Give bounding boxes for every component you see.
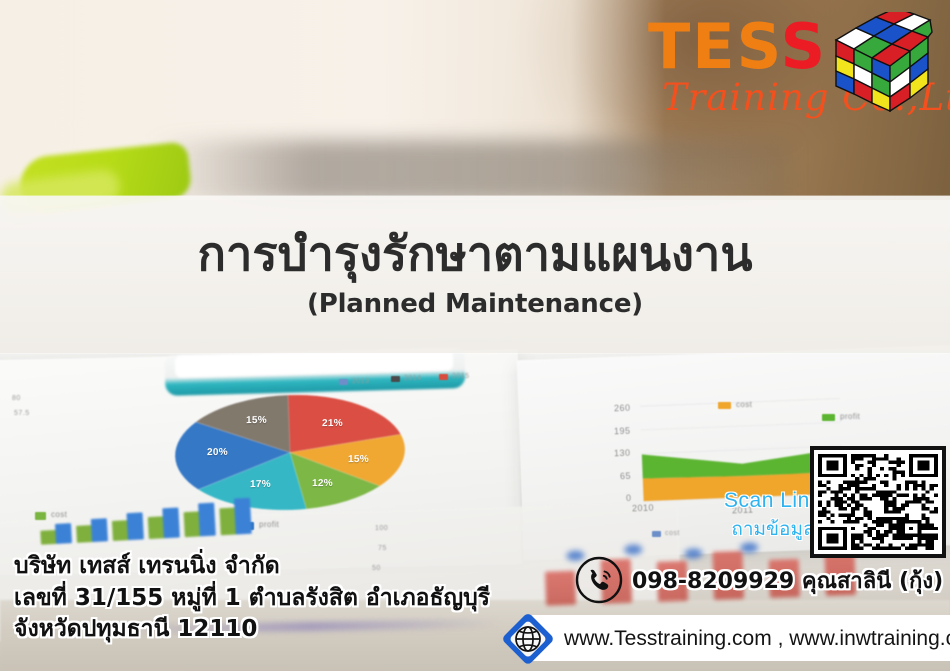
legend-label: profit — [259, 520, 279, 529]
axis-tick-label: 2010 — [632, 503, 654, 514]
phone-icon — [575, 556, 623, 604]
title-banner: การบำรุงรักษาตามแผนงาน (Planned Maintena… — [0, 196, 950, 353]
axis-tick-label: 65 — [620, 470, 631, 480]
legend-label: profit — [840, 412, 860, 421]
page-title: การบำรุงรักษาตามแผนงาน — [198, 230, 753, 279]
logo-wordmark: TESS — [648, 10, 827, 83]
logo-wordmark-part1: TES — [648, 10, 781, 83]
legend-swatch — [439, 374, 448, 380]
background-legend-text: 2013 — [352, 378, 370, 385]
legend-swatch — [822, 414, 835, 421]
page-subtitle: (Planned Maintenance) — [307, 289, 643, 319]
background-legend-text: cost — [665, 530, 680, 537]
company-name: บริษัท เทสส์ เทรนนิ่ง จำกัด — [14, 551, 494, 583]
pie-slice-label: 12% — [312, 478, 333, 489]
background-legend-text: 100 — [375, 525, 388, 532]
bar-segment — [55, 523, 72, 544]
poster-canvas: 21%15%12%17%20%15% costprofit 0651301952… — [0, 0, 950, 671]
background-legend-text: 80 — [12, 395, 21, 402]
legend-swatch — [339, 379, 348, 385]
bar-segment — [198, 503, 216, 537]
axis-tick-label: 195 — [614, 425, 631, 436]
legend-label: cost — [736, 400, 752, 409]
rubiks-cube-icon — [826, 12, 934, 112]
globe-icon — [498, 609, 558, 669]
bar-segment — [91, 518, 108, 542]
website-urls: www.Tesstraining.com , www.inwtraining.c… — [564, 627, 950, 651]
phone-contact[interactable]: 098-8209929 คุณสาลินี (กุ้ง) — [575, 556, 943, 604]
pie-slice-label: 21% — [322, 418, 343, 429]
tess-logo: TESS Training Co.,Ltd — [640, 8, 940, 133]
address-line-2: จังหวัดปทุมธานี 12110 — [14, 614, 494, 646]
background-legend-text: 2015 — [452, 373, 470, 380]
logo-wordmark-part2: S — [781, 10, 828, 83]
axis-tick-label: 130 — [614, 448, 631, 459]
qr-code-icon[interactable] — [810, 446, 946, 558]
background-legend-text: 57.5 — [14, 410, 30, 417]
background-legend-text: 2014 — [404, 375, 422, 382]
pie-slice-label: 15% — [246, 415, 267, 426]
axis-tick-label: 260 — [614, 403, 631, 414]
legend-swatch — [718, 402, 731, 409]
website-contact[interactable]: www.Tesstraining.com , www.inwtraining.c… — [498, 609, 950, 669]
company-address: บริษัท เทสส์ เทรนนิ่ง จำกัด เลขที่ 31/15… — [14, 551, 494, 646]
bar-segment — [127, 512, 144, 540]
address-line-1: เลขที่ 31/155 หมู่ที่ 1 ตำบลรังสิต อำเภอ… — [14, 583, 494, 615]
pie-slice-label: 20% — [207, 446, 228, 457]
pie-slice-label: 17% — [250, 479, 271, 490]
phone-number: 098-8209929 คุณสาลินี (กุ้ง) — [632, 563, 943, 598]
bar-segment — [234, 498, 252, 535]
legend-swatch — [652, 531, 661, 537]
bar-segment — [545, 571, 576, 606]
marker-dot — [624, 544, 642, 555]
bar-segment — [162, 508, 180, 539]
axis-tick-label: 0 — [626, 493, 632, 503]
legend-swatch — [391, 376, 400, 382]
pie-slice-label: 15% — [348, 454, 369, 465]
desk-shadow — [150, 140, 790, 202]
